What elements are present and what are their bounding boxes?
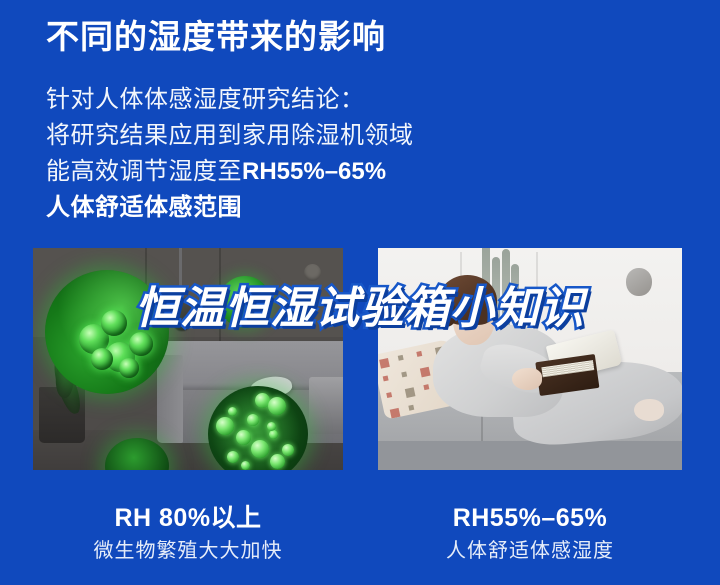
- sofa-base: [378, 441, 682, 470]
- pillow-pattern-mark: [420, 367, 431, 378]
- body-line-3-emphasis: RH55%–65%: [242, 158, 386, 185]
- microbe-bump-icon: [247, 414, 259, 426]
- microbe-bump-icon: [282, 444, 294, 456]
- overlay-title: 恒温恒湿试验箱小知识: [0, 272, 720, 336]
- body-line-4: 人体舒适体感范围: [46, 190, 414, 226]
- caption-right-title: RH55%–65%: [378, 502, 682, 534]
- body-line-1: 针对人体体感湿度研究结论：: [46, 82, 414, 118]
- pillow-pattern-mark: [423, 384, 429, 390]
- microbe-bump-icon: [228, 407, 237, 416]
- caption-left-title: RH 80%以上: [33, 502, 343, 534]
- pillow-pattern-mark: [405, 388, 416, 399]
- person-foot: [634, 399, 664, 421]
- pillow-pattern-mark: [379, 358, 390, 369]
- person-hand: [512, 368, 542, 390]
- side-table: [309, 377, 343, 435]
- caption-left-subtitle: 微生物繁殖大大加快: [33, 538, 343, 564]
- body-line-3-prefix: 能高效调节湿度至: [46, 158, 242, 185]
- pillow-pattern-mark: [398, 355, 404, 361]
- microbe-sphere-icon: [119, 358, 139, 378]
- caption-right-subtitle: 人体舒适体感湿度: [378, 538, 682, 564]
- microbe-sphere-icon: [91, 348, 113, 370]
- page-title: 不同的湿度带来的影响: [46, 18, 386, 56]
- microbe-bump-icon: [251, 440, 269, 458]
- pillow-pattern-mark: [416, 351, 422, 357]
- pillow-pattern-mark: [383, 376, 389, 382]
- body-line-2: 将研究结果应用到家用除湿机领域: [46, 118, 414, 154]
- microbe-bump-icon: [227, 451, 239, 463]
- body-copy-block: 针对人体体感湿度研究结论： 将研究结果应用到家用除湿机领域 能高效调节湿度至RH…: [46, 82, 414, 226]
- poster-canvas: 不同的湿度带来的影响 针对人体体感湿度研究结论： 将研究结果应用到家用除湿机领域…: [0, 0, 720, 585]
- microbe-bump-icon: [216, 417, 234, 435]
- caption-left: RH 80%以上 微生物繁殖大大加快: [33, 502, 343, 564]
- body-line-3: 能高效调节湿度至RH55%–65%: [46, 154, 414, 190]
- caption-right: RH55%–65% 人体舒适体感湿度: [378, 502, 682, 564]
- pillow-pattern-mark: [386, 392, 392, 398]
- sofa-arm: [157, 355, 183, 444]
- pillow-pattern-mark: [401, 372, 407, 378]
- pillow-pattern-mark: [408, 405, 414, 411]
- microbe-bump-icon: [236, 430, 251, 445]
